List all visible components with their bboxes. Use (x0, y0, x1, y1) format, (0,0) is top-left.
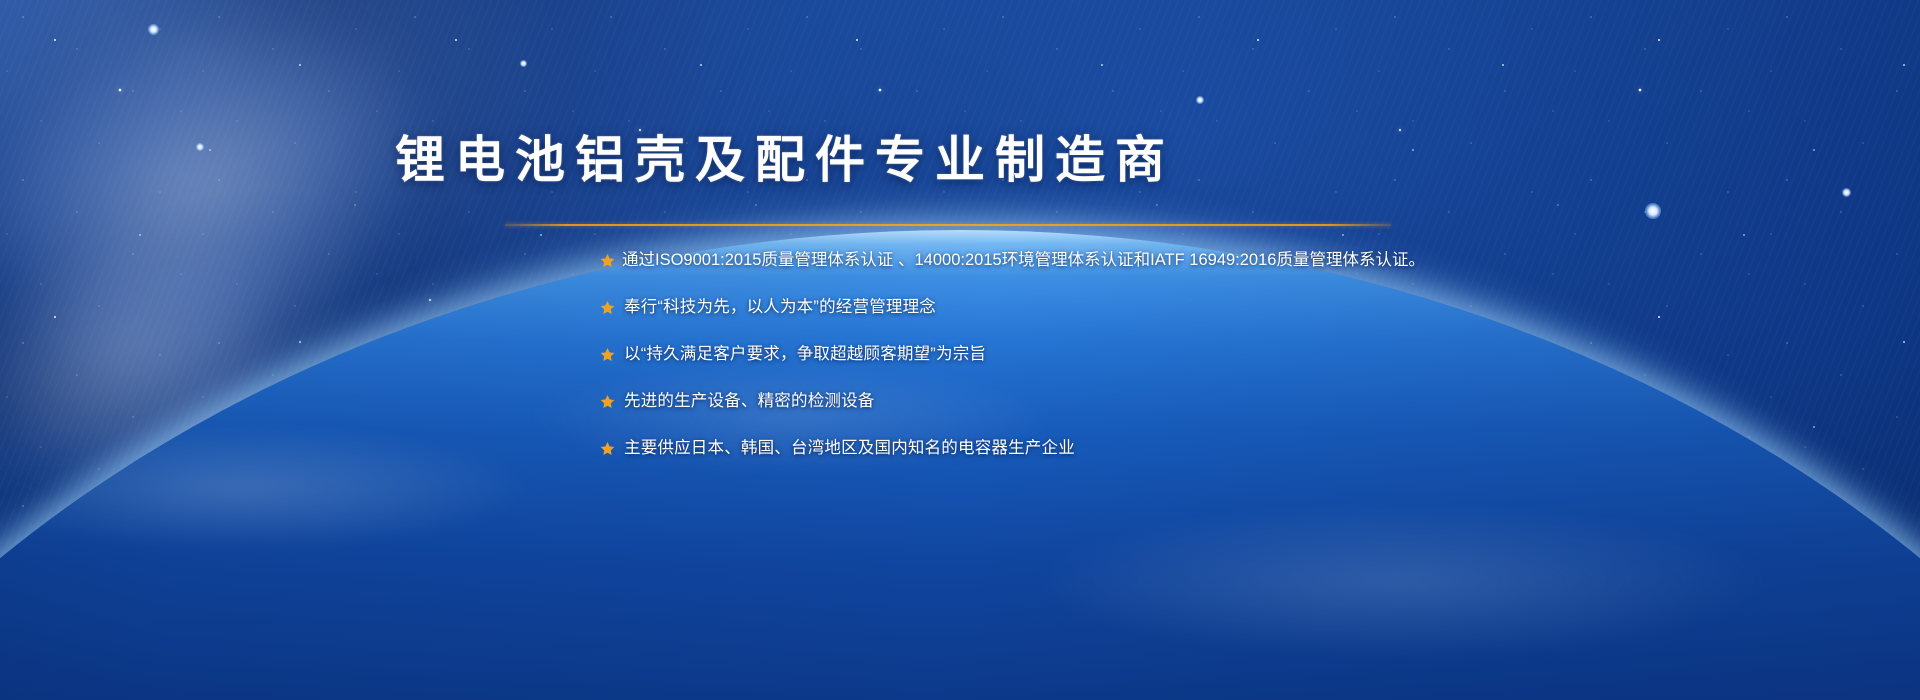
star-icon (600, 441, 615, 456)
list-item: 先进的生产设备、精密的检测设备 (600, 390, 1720, 412)
list-item: 以“持久满足客户要求，争取超越顾客期望”为宗旨 (600, 343, 1720, 365)
star-icon (600, 300, 615, 315)
list-item-label: 先进的生产设备、精密的检测设备 (624, 390, 875, 412)
star-icon (600, 394, 615, 409)
title-divider (505, 224, 1391, 226)
hero-banner: 锂电池铝壳及配件专业制造商 通过ISO9001:2015质量管理体系认证 、14… (0, 0, 1920, 700)
page-title: 锂电池铝壳及配件专业制造商 (0, 129, 1570, 192)
feature-list: 通过ISO9001:2015质量管理体系认证 、14000:2015环境管理体系… (600, 249, 1720, 459)
list-item-label: 奉行“科技为先，以人为本”的经营管理理念 (624, 296, 936, 318)
list-item-label: 主要供应日本、韩国、台湾地区及国内知名的电容器生产企业 (624, 437, 1075, 459)
star-icon (600, 347, 615, 362)
list-item: 通过ISO9001:2015质量管理体系认证 、14000:2015环境管理体系… (600, 249, 1720, 271)
list-item-label: 通过ISO9001:2015质量管理体系认证 、14000:2015环境管理体系… (622, 249, 1425, 271)
list-item-label: 以“持久满足客户要求，争取超越顾客期望”为宗旨 (624, 343, 986, 365)
list-item: 奉行“科技为先，以人为本”的经营管理理念 (600, 296, 1720, 318)
list-item: 主要供应日本、韩国、台湾地区及国内知名的电容器生产企业 (600, 437, 1720, 459)
star-icon (600, 253, 615, 268)
banner-content: 锂电池铝壳及配件专业制造商 通过ISO9001:2015质量管理体系认证 、14… (0, 0, 1920, 700)
